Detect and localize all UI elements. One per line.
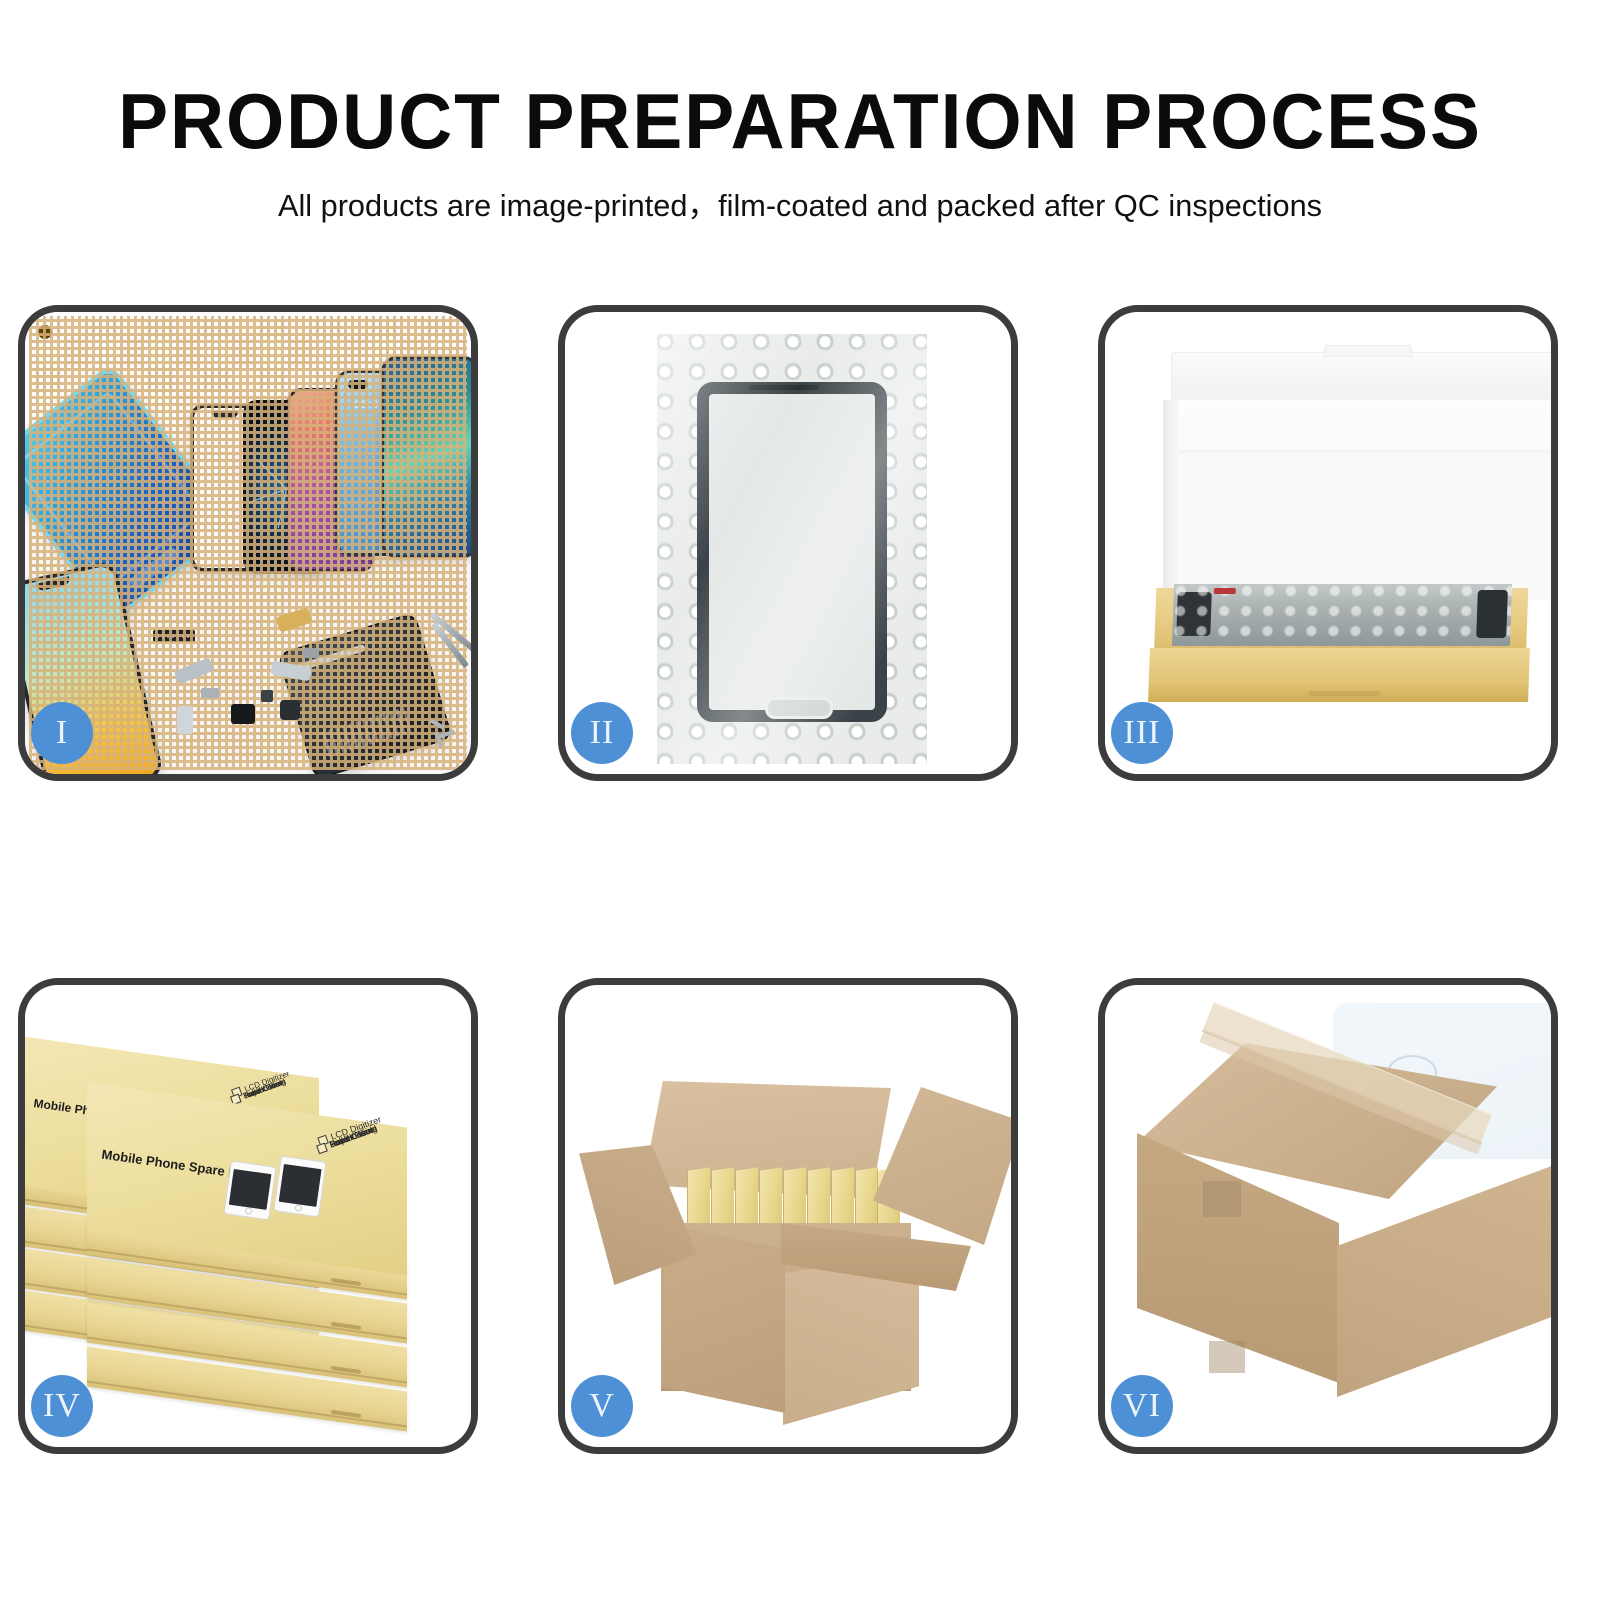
step-badge-3: III (1111, 702, 1173, 764)
step-card-5[interactable]: V (558, 978, 1018, 1454)
inner-box-lid (1171, 352, 1551, 406)
step-card-2[interactable]: II (558, 305, 1018, 781)
step-badge-6: VI (1111, 1375, 1173, 1437)
packed-screen (1172, 584, 1512, 646)
step-image-3 (1105, 312, 1551, 774)
screws-part (429, 722, 463, 744)
step-badge-4: IV (31, 1375, 93, 1437)
step-card-6[interactable]: VI (1098, 978, 1558, 1454)
step-image-4: Mobile Phone Spare Parts LCD Digitizer T… (25, 985, 471, 1447)
step-image-6 (1105, 985, 1551, 1447)
step-image-5 (565, 985, 1011, 1447)
step-image-2 (565, 312, 1011, 774)
step-badge-2: II (571, 702, 633, 764)
inner-box-front (1148, 648, 1530, 702)
carton-tab-lower (1209, 1341, 1245, 1373)
infographic-page: PRODUCT PREPARATION PROCESS All products… (0, 0, 1600, 1600)
carton-tab-upper (1203, 1181, 1241, 1217)
step-image-1: 08:08 (25, 312, 471, 774)
small-chip-part (261, 690, 273, 702)
step-card-1[interactable]: 08:08 I (18, 305, 478, 781)
page-title: PRODUCT PREPARATION PROCESS (32, 0, 1568, 160)
sim-tray-part (177, 706, 193, 734)
bubble-wrap-sheet (657, 334, 927, 764)
ic-chip-part (25, 352, 69, 394)
page-subtitle: All products are image-printed，film-coat… (8, 160, 1592, 221)
small-part-b (303, 648, 319, 658)
step-badge-5: V (571, 1375, 633, 1437)
camera-module-part (280, 700, 300, 720)
step-badge-1: I (31, 702, 93, 764)
inner-box-interior (1163, 400, 1551, 600)
small-part-a (201, 688, 219, 698)
connector-part (231, 704, 255, 724)
header: PRODUCT PREPARATION PROCESS All products… (0, 0, 1600, 221)
step-card-3[interactable]: III (1098, 305, 1558, 781)
step-card-4[interactable]: Mobile Phone Spare Parts LCD Digitizer T… (18, 978, 478, 1454)
